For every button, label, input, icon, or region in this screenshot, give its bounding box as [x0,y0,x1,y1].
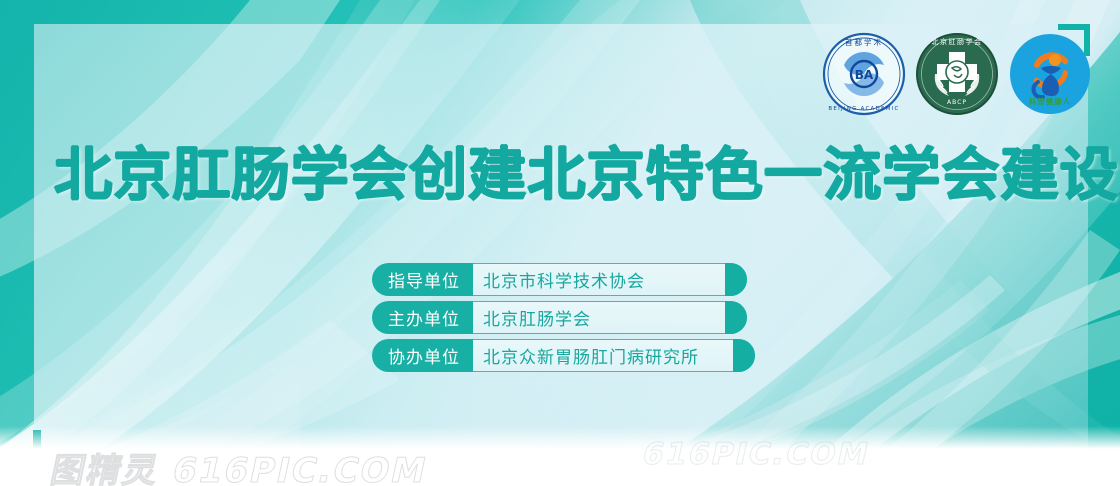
beijing-anorectal-society-logo: 北京肛肠学会 ABCP [915,32,999,116]
beijing-academic-logo: BA 首都学术 BEIJING ACADEMIC [822,32,906,116]
banner-root: BA 首都学术 BEIJING ACADEMIC 北京肛肠学会 ABCP [0,0,1120,486]
info-row-guidance: 指导单位 北京市科学技术协会 [372,263,755,296]
info-row-value: 北京众新胃肠肛门病研究所 [473,339,755,372]
logo-group: BA 首都学术 BEIJING ACADEMIC 北京肛肠学会 ABCP [822,32,1092,116]
info-row-value-text: 北京市科学技术协会 [483,267,645,292]
info-row-endcap [725,263,747,296]
info-row-value-text: 北京众新胃肠肛门病研究所 [483,343,699,368]
svg-text:BEIJING ACADEMIC: BEIJING ACADEMIC [828,106,899,112]
info-row-co-organizer: 协办单位 北京众新胃肠肛门病研究所 [372,339,755,372]
info-row-label: 协办单位 [372,339,473,372]
svg-text:科普健康人: 科普健康人 [1029,96,1072,106]
info-row-label: 指导单位 [372,263,473,296]
bottom-fade [0,426,1120,486]
svg-text:首都学术: 首都学术 [845,37,883,47]
info-row-endcap [733,339,755,372]
science-health-people-logo: 科普健康人 [1008,32,1092,116]
info-row-value: 北京肛肠学会 [473,301,747,334]
info-row-endcap [725,301,747,334]
info-row-value-text: 北京肛肠学会 [483,305,591,330]
info-row-label: 主办单位 [372,301,473,334]
info-row-organizer: 主办单位 北京肛肠学会 [372,301,755,334]
page-title: 北京肛肠学会创建北京特色一流学会建设 [54,146,1094,206]
svg-text:ABCP: ABCP [947,99,967,106]
svg-text:北京肛肠学会: 北京肛肠学会 [932,37,983,46]
info-row-value: 北京市科学技术协会 [473,263,747,296]
svg-text:BA: BA [855,68,874,82]
info-rows: 指导单位 北京市科学技术协会 主办单位 北京肛肠学会 协办单位 北京众新胃肠肛门… [372,263,755,372]
